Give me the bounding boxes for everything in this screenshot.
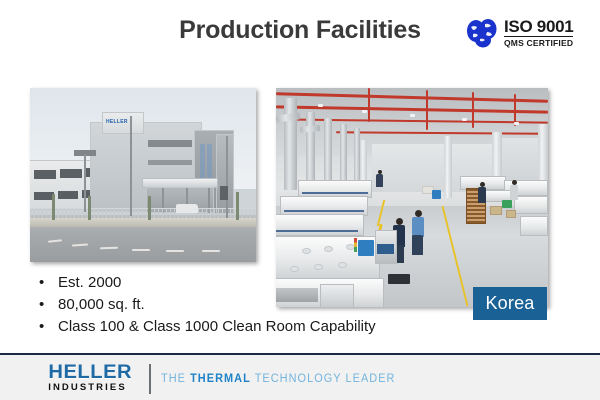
column [444,136,452,198]
window [34,170,56,179]
worker-body [478,187,486,203]
heller-industries-logo: HELLER INDUSTRIES [33,364,141,394]
tree [52,194,55,220]
signal-pole [84,154,86,212]
reflow-oven [276,214,364,236]
ceiling-lamp [514,122,519,125]
slide-canvas: Production Facilities ISO 9001 [0,0,600,400]
location-label-korea: Korea [473,287,547,320]
footer-tagline: THE THERMAL TECHNOLOGY LEADER [161,373,396,385]
oven-port [324,246,333,252]
list-item: • 80,000 sq. ft. [34,294,454,316]
bullet-marker-icon: • [34,272,58,294]
facility-facts-list: • Est. 2000 • 80,000 sq. ft. • Class 100… [34,272,454,338]
tower-glass [207,144,212,178]
ceiling-lamp [462,118,467,121]
window-band [148,160,192,165]
tree [148,196,151,220]
oven-port [302,248,311,254]
logo-wordmark: HELLER [33,364,147,382]
building-end-wall [216,134,234,214]
oven-stripe [276,230,358,232]
bullet-marker-icon: • [34,316,58,338]
window [58,191,78,199]
ceiling-lamp [318,104,323,107]
parked-car [176,204,198,213]
exhaust-duct [324,118,332,184]
oven-stripe [302,192,368,194]
tower-glass [200,144,205,178]
worker-body [510,185,518,200]
oven-port [338,262,347,268]
sprinkler-dropper [426,90,428,130]
ceiling-lamp [362,110,367,113]
facility-exterior-photo: HELLER [30,88,256,262]
bullet-marker-icon: • [34,294,58,316]
cart-panel [377,244,394,254]
list-item-label: Est. 2000 [58,272,121,294]
kerb [30,218,256,227]
green-bin [502,200,512,208]
carton [506,210,516,218]
footer-divider [149,364,151,394]
equipment-row [514,196,548,214]
list-item: • Class 100 & Class 1000 Clean Room Capa… [34,316,454,338]
tagline-post: TECHNOLOGY LEADER [251,373,396,385]
list-item: • Est. 2000 [34,272,454,294]
list-item-label: 80,000 sq. ft. [58,294,145,316]
window [60,169,82,178]
ceiling-lamp [410,114,415,117]
reflow-oven [280,196,368,216]
iso-badge-text: ISO 9001 QMS CERTIFIED [504,18,573,49]
signal-tower-light [354,238,357,252]
road-dash [132,249,150,251]
window [34,192,54,200]
building-logo: HELLER [106,119,128,125]
slide-footer: HELLER INDUSTRIES THE THERMAL TECHNOLOGY… [0,353,600,400]
tree [88,196,91,220]
iso-9001-badge: ISO 9001 QMS CERTIFIED [466,16,582,50]
tagline-accent: THERMAL [190,373,251,385]
oven-port [314,264,323,270]
equipment-row [520,216,548,236]
page-title: Production Facilities [150,16,450,45]
worker-body [376,174,383,187]
iso-badge-subtitle: QMS CERTIFIED [504,38,573,49]
sprinkler-dropper [368,88,370,122]
list-item-label: Class 100 & Class 1000 Clean Room Capabi… [58,316,376,338]
sprinkler-dropper [472,92,474,128]
window-band [148,140,192,147]
blue-bin [358,240,374,256]
exhaust-duct [306,112,315,186]
traffic-signal [220,186,228,200]
road-dash [202,250,220,252]
exhaust-duct [284,98,297,190]
light-pole [130,116,132,216]
footer-branding: HELLER INDUSTRIES THE THERMAL TECHNOLOGY… [33,364,408,394]
worker-head [415,210,422,217]
worker-legs [412,235,423,255]
oven-stripe [284,210,364,212]
worker-head [396,218,403,225]
exhaust-duct [340,124,347,182]
carton [490,206,502,215]
iso-badge-title: ISO 9001 [504,18,573,37]
worker-body [412,217,424,237]
light-pole [226,136,228,218]
blue-bin [432,190,441,199]
logo-subtitle: INDUSTRIES [33,382,141,394]
road-dash [166,250,184,252]
tagline-pre: THE [161,373,190,385]
tree [236,192,239,220]
iso-globe-icon [466,18,500,48]
